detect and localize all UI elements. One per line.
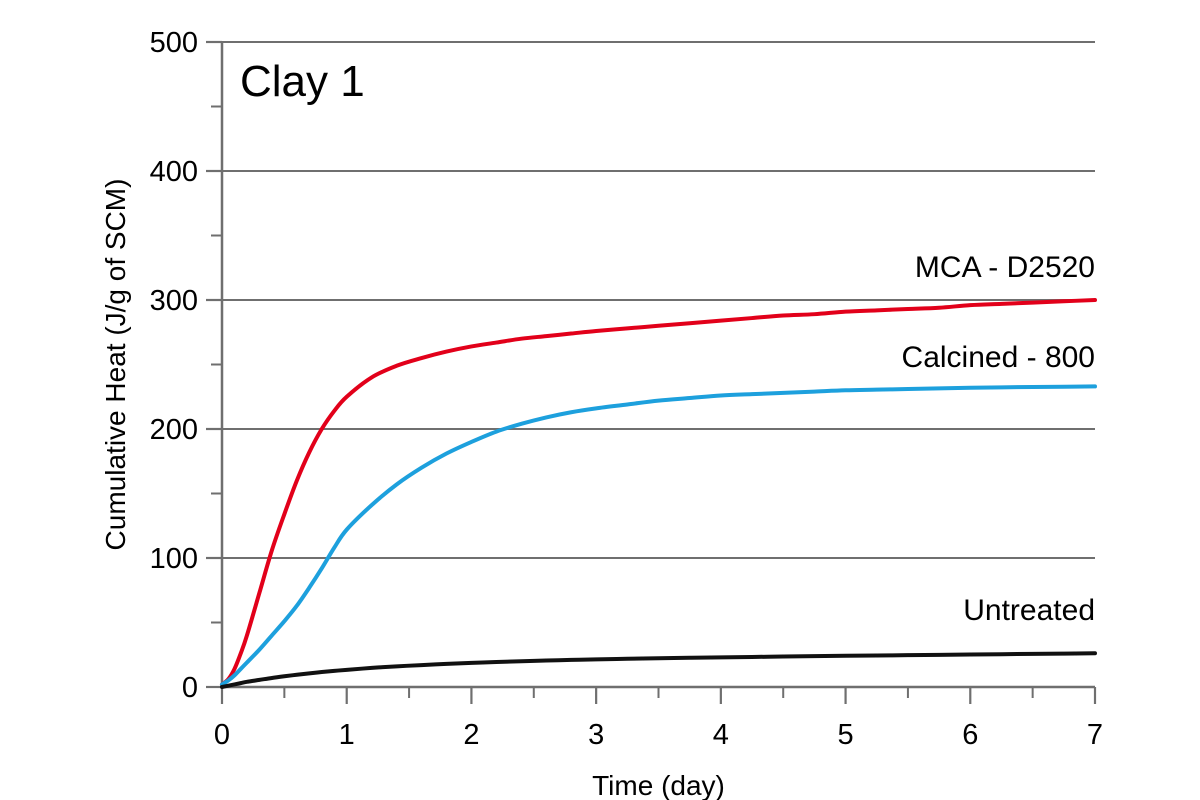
x-tick-label-5: 5 [838, 719, 854, 751]
x-tick-label-1: 1 [339, 719, 355, 751]
x-axis-title: Time (day) [592, 770, 725, 800]
y-tick-label-400: 400 [150, 156, 198, 188]
chart-container: 0100200300400500 01234567 MCA - D2520Cal… [0, 0, 1200, 800]
y-tick-label-300: 300 [150, 285, 198, 317]
y-tick-label-200: 200 [150, 414, 198, 446]
y-tick-label-100: 100 [150, 543, 198, 575]
y-tick-label-500: 500 [150, 27, 198, 59]
chart-background [0, 0, 1200, 800]
series-label-0: MCA - D2520 [915, 251, 1095, 284]
x-tick-label-6: 6 [962, 719, 978, 751]
x-tick-label-3: 3 [588, 719, 604, 751]
x-tick-label-0: 0 [214, 719, 230, 751]
cumulative-heat-line-chart: 0100200300400500 01234567 MCA - D2520Cal… [0, 0, 1200, 800]
y-axis-title: Cumulative Heat (J/g of SCM) [100, 179, 131, 551]
y-tick-label-0: 0 [182, 672, 198, 704]
x-tick-label-2: 2 [463, 719, 479, 751]
x-tick-label-7: 7 [1087, 719, 1103, 751]
series-label-1: Calcined - 800 [902, 341, 1095, 374]
x-tick-label-4: 4 [713, 719, 729, 751]
plot-title: Clay 1 [240, 57, 365, 106]
series-label-2: Untreated [963, 594, 1095, 627]
